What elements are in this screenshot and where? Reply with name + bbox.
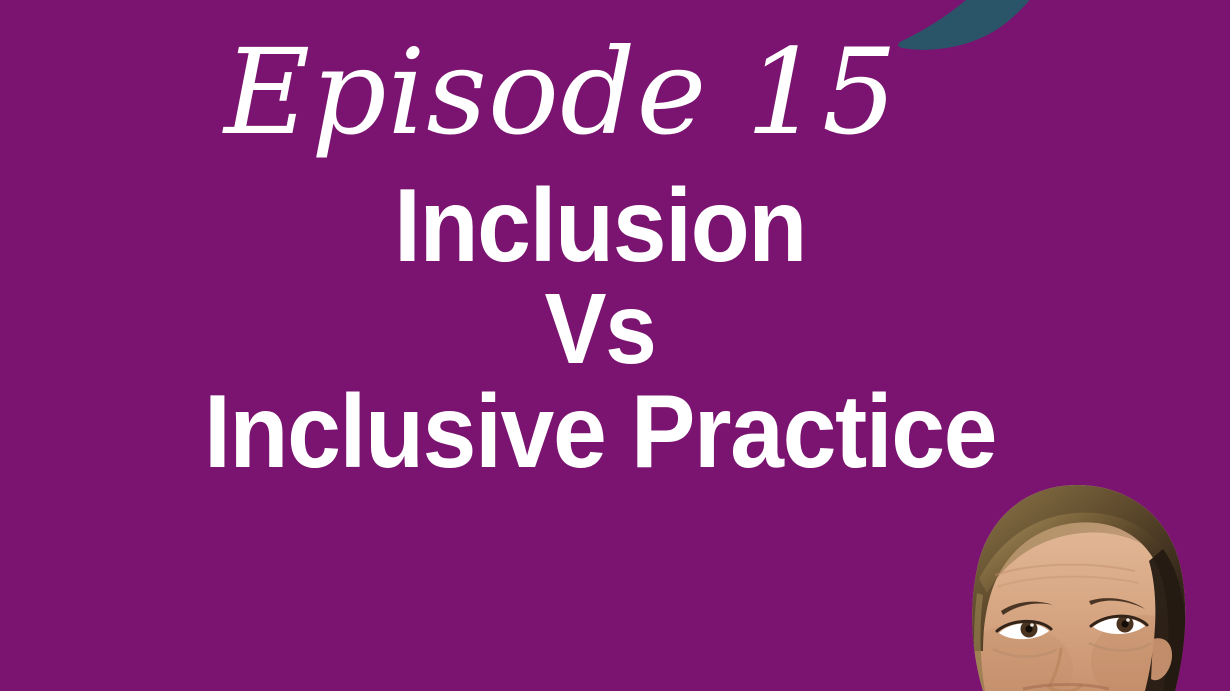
title-line-inclusive-practice: Inclusive Practice [42, 382, 1158, 483]
episode-number-text: Episode 15 [222, 23, 898, 161]
episode-cover-canvas: Episode 15 Inclusion Vs Inclusive Practi… [0, 0, 1230, 691]
title-line-vs: Vs [42, 281, 1158, 378]
episode-title: Inclusion Vs Inclusive Practice [0, 176, 1200, 483]
episode-number-label: Episode 15 [222, 8, 642, 178]
host-portrait [949, 483, 1207, 691]
title-line-inclusion: Inclusion [42, 176, 1158, 277]
teal-swoosh-icon [880, 0, 1070, 55]
